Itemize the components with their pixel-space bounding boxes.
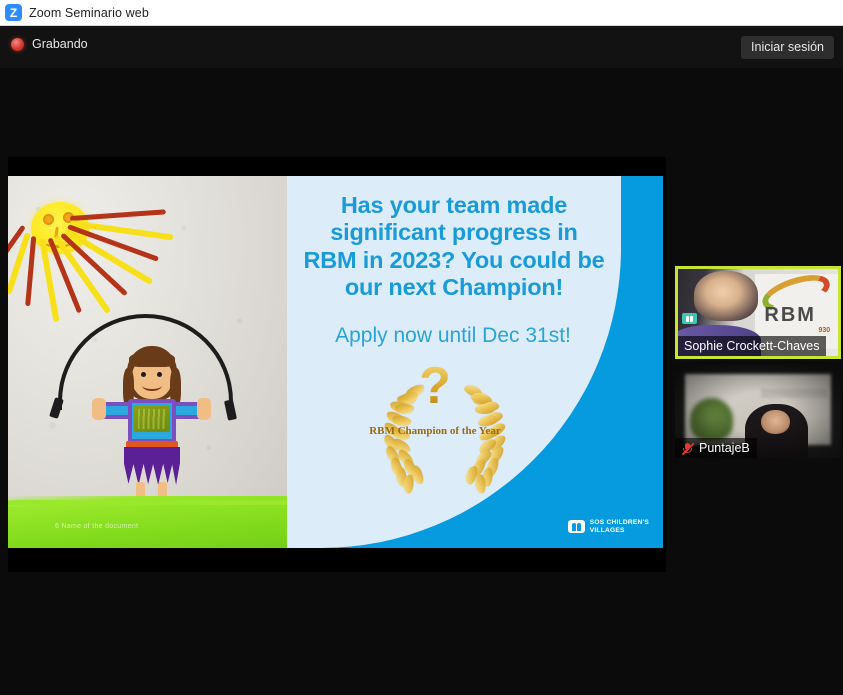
microphone-muted-icon (681, 442, 694, 455)
presentation-slide: 6 Name of the document Has your team mad… (8, 176, 663, 548)
sos-logo-text: SOS CHILDREN'S VILLAGES (590, 519, 649, 535)
zoom-logo-icon: Z (5, 4, 22, 21)
slide-footnote: 6 Name of the document (55, 523, 138, 530)
participant-tile-sophie[interactable]: RBM 930 Sophie Crockett-Chaves (675, 266, 841, 359)
grass (8, 496, 287, 548)
zoom-logo-letter: Z (10, 7, 17, 19)
shared-screen-area[interactable]: 6 Name of the document Has your team mad… (8, 157, 666, 572)
eye-right (157, 372, 162, 377)
participant-name-bar: Sophie Crockett-Chaves (678, 336, 826, 356)
rbm-champion-badge: ? RBM Champion of the Year (359, 362, 511, 502)
sos-children-villages-icon (568, 520, 585, 533)
child-crayon-drawing: 6 Name of the document (8, 176, 287, 548)
speaker-badge-icon (682, 313, 697, 324)
recording-indicator: Grabando (11, 37, 88, 51)
skirt (124, 447, 180, 485)
window-title: Zoom Seminario web (29, 6, 149, 20)
participant-name: Sophie Crockett-Chaves (684, 339, 819, 353)
slide-heading: Has your team made significant progress … (301, 192, 607, 302)
window-title-bar: Z Zoom Seminario web (0, 0, 843, 26)
participant-tile-puntajeb[interactable]: PuntajeB (675, 365, 841, 458)
participant-name-bar: PuntajeB (675, 438, 757, 458)
hand-right (197, 398, 211, 420)
question-mark-icon: ? (359, 360, 511, 412)
whiteboard-text: RBM (764, 304, 816, 327)
hair-fringe (129, 352, 175, 367)
sign-in-button[interactable]: Iniciar sesión (741, 36, 834, 59)
badge-title: RBM Champion of the Year (359, 424, 511, 439)
participant-head (694, 271, 758, 321)
participant-name: PuntajeB (699, 441, 750, 455)
hand-left (92, 398, 106, 420)
slide-blue-panel: Has your team made significant progress … (287, 176, 663, 548)
eye-left (141, 372, 146, 377)
shirt-bib (134, 406, 170, 432)
whiteboard-tag: 930 (816, 326, 834, 335)
smile (142, 380, 162, 391)
recording-label: Grabando (32, 37, 88, 51)
recording-dot-icon (11, 38, 24, 51)
sos-children-villages-logo: SOS CHILDREN'S VILLAGES (568, 519, 649, 535)
meeting-top-toolbar: Grabando Iniciar sesión (0, 26, 843, 68)
sun-eye-left (43, 214, 54, 225)
zoom-meeting-window: Grabando Iniciar sesión (0, 26, 843, 695)
slide-subheading: Apply now until Dec 31st! (297, 324, 609, 347)
